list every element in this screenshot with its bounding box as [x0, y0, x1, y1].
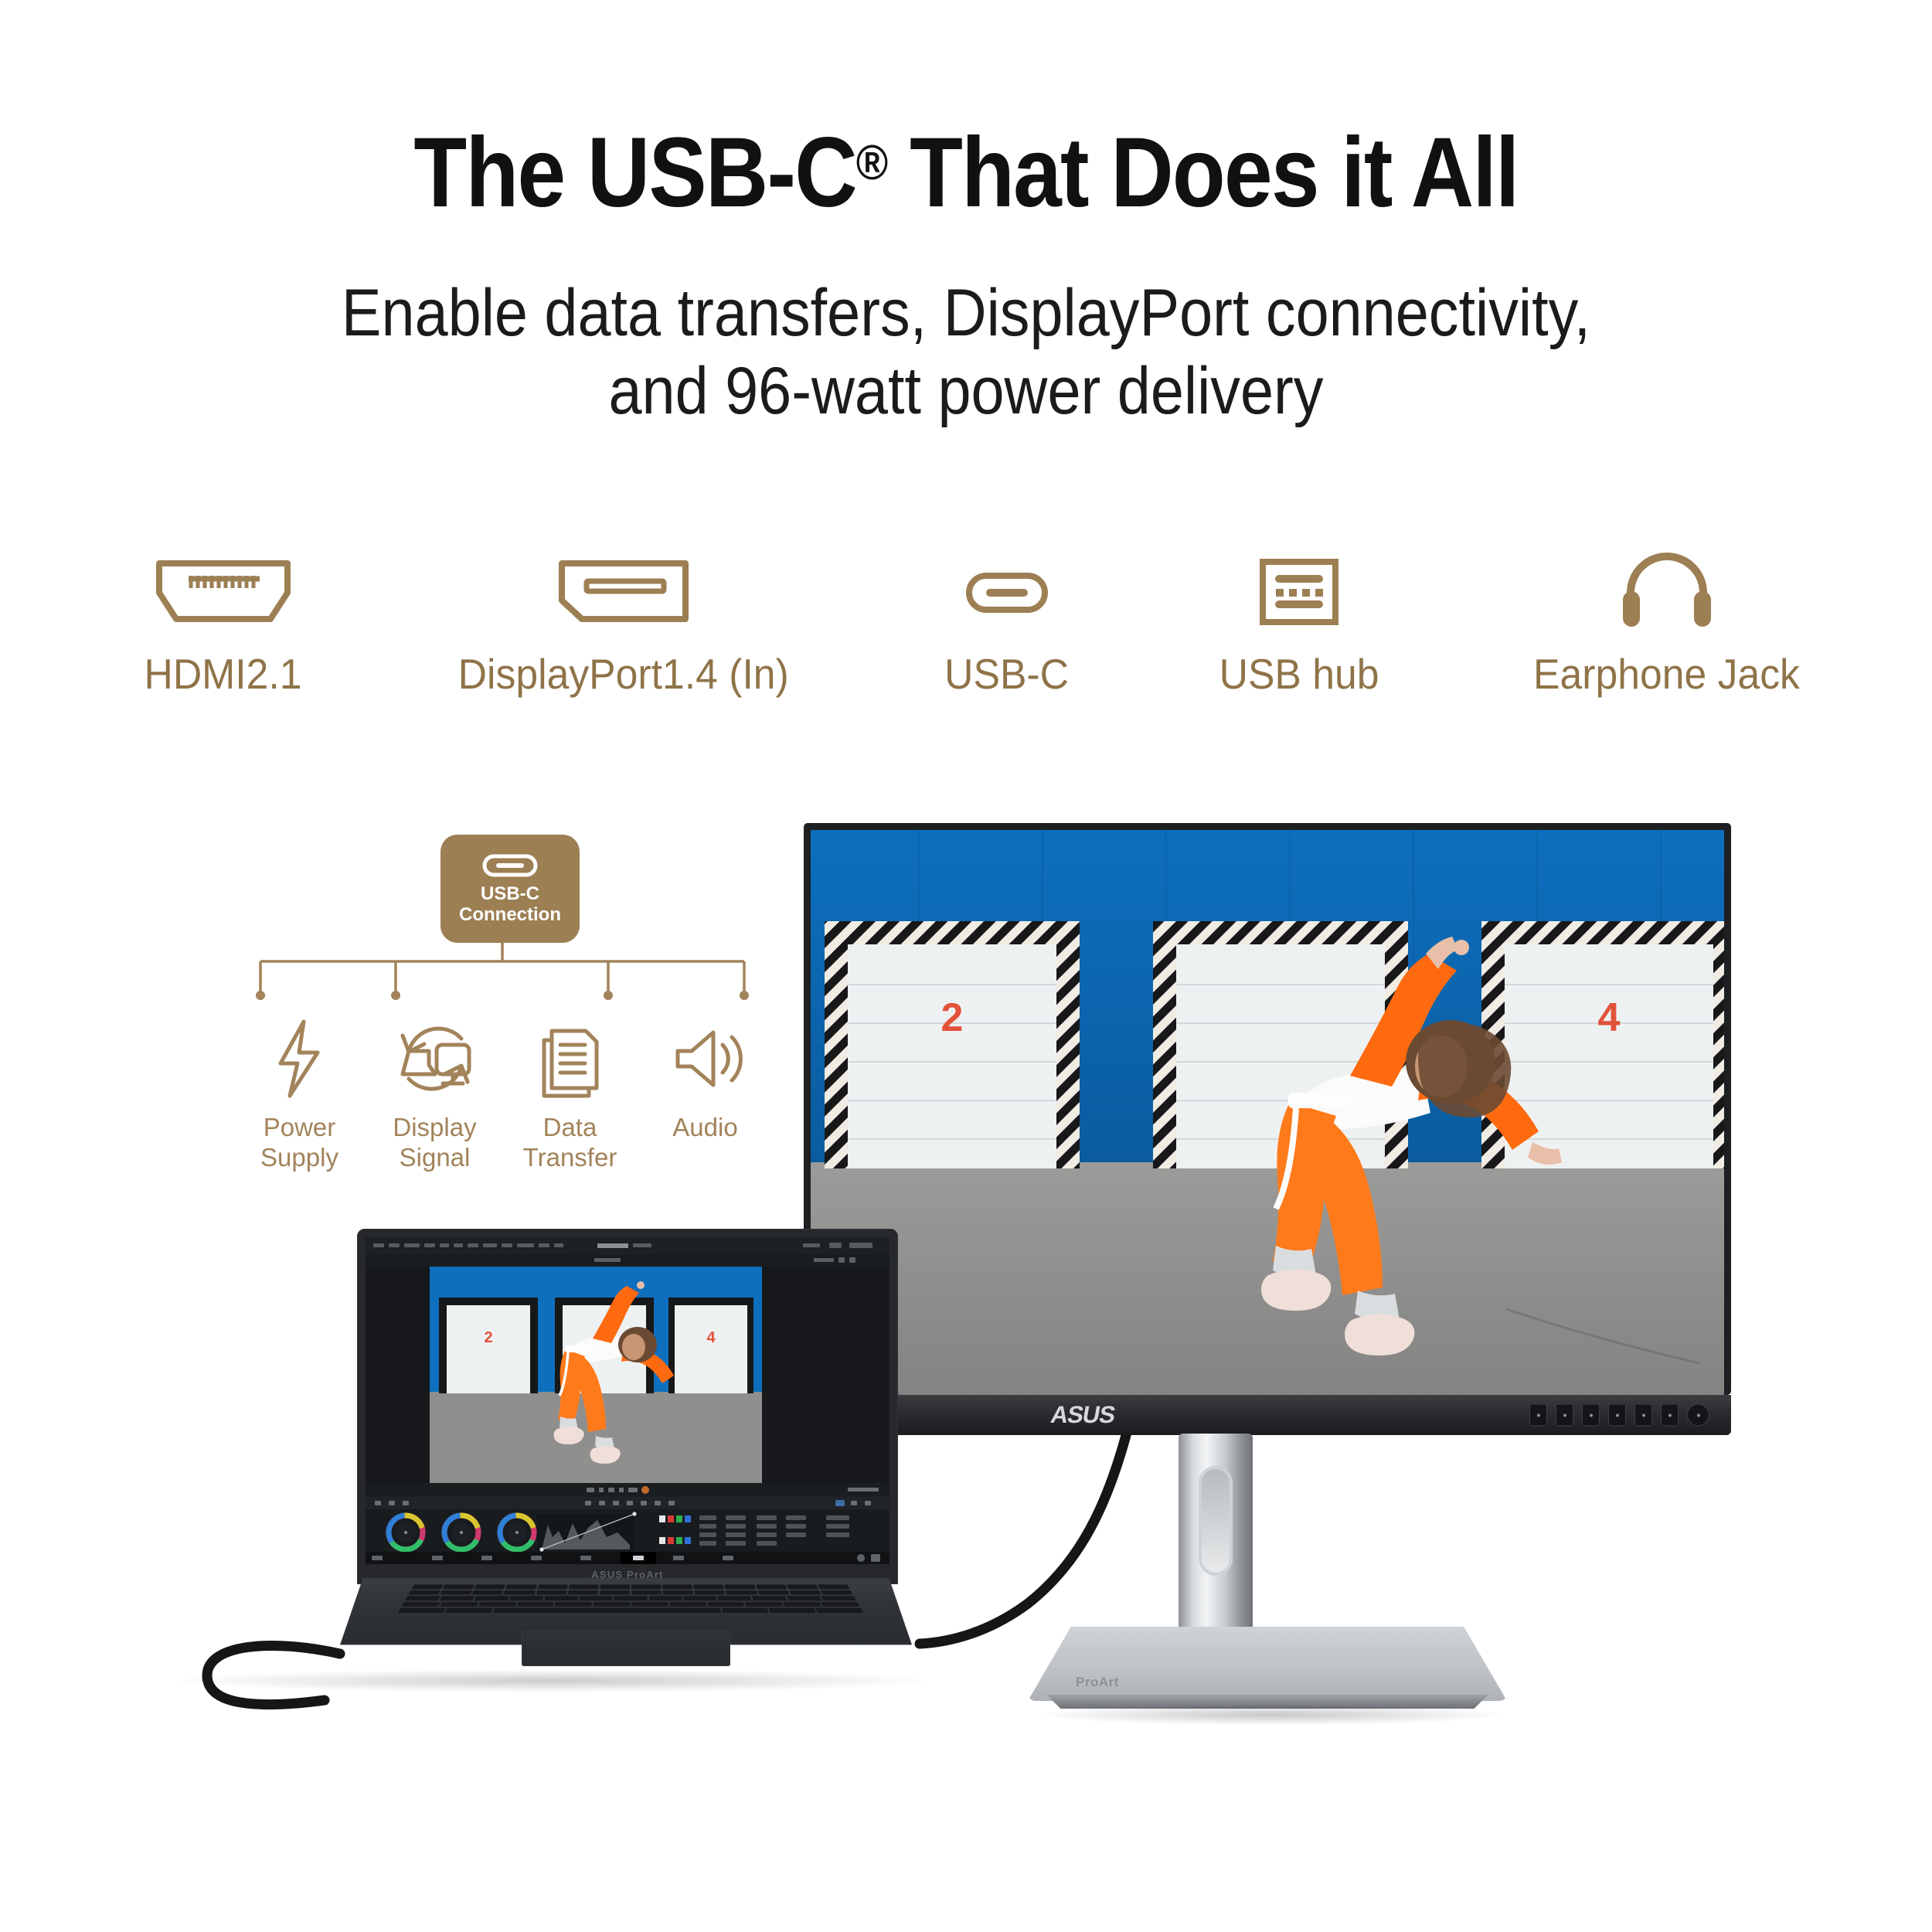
osd-button-4[interactable]	[1634, 1404, 1652, 1427]
keyboard-row-qwerty[interactable]	[405, 1596, 856, 1600]
monitor-chin-bezel: ASUS	[804, 1395, 1731, 1435]
branch-audio: Audio	[638, 1014, 773, 1173]
page-subtitle: Enable data transfers, DisplayPort conne…	[97, 274, 1835, 431]
usb-c-connection-diagram: USB-C Connection	[232, 835, 773, 1221]
door-number: 2	[484, 1329, 492, 1346]
branch-label: Power Supply	[260, 1113, 338, 1173]
door-number: 4	[706, 1329, 716, 1346]
subtitle-line-1: Enable data transfers, DisplayPort conne…	[97, 274, 1835, 352]
usb-c-connection-node: USB-C Connection	[440, 835, 580, 943]
monitor: 2 4	[804, 823, 1731, 1395]
laptop-app-window: 2 4	[366, 1237, 889, 1564]
hdmi-port-icon	[154, 549, 293, 634]
registered-trademark-icon: ®	[856, 134, 887, 190]
laptop-screen: 2 4	[366, 1237, 889, 1564]
monitor-shadow	[1039, 1705, 1503, 1725]
diagram-connector-lines	[232, 941, 773, 1012]
branch-data-transfer: Data Transfer	[502, 1014, 638, 1173]
port-list: HDMI2.1 DisplayPort1.4 (In) USB-C	[139, 549, 1808, 726]
branch-power-supply: Power Supply	[232, 1014, 367, 1173]
laptop-shadow	[166, 1669, 939, 1692]
monitor-bezel: 2 4	[804, 823, 1731, 1395]
product-feature-page: The USB-C® That Does it All Enable data …	[0, 0, 1932, 1932]
port-label: DisplayPort1.4 (In)	[458, 649, 789, 699]
proart-logo: ProArt	[1076, 1675, 1119, 1690]
usb-c-connection-label: USB-C Connection	[459, 884, 561, 926]
usb-c-icon	[481, 852, 539, 879]
monitor-screen: 2 4	[811, 830, 1724, 1395]
headline-text-after: That Does it All	[887, 117, 1519, 228]
door-number: 4	[1598, 995, 1621, 1040]
power-button[interactable]	[1529, 1404, 1547, 1427]
usb-c-port-icon	[957, 549, 1057, 634]
osd-button-1[interactable]	[1556, 1404, 1573, 1427]
osd-button-2[interactable]	[1582, 1404, 1600, 1427]
port-item-earphone-jack: Earphone Jack	[1525, 549, 1808, 699]
port-label: Earphone Jack	[1533, 649, 1800, 699]
subtitle-line-2: and 96-watt power delivery	[97, 352, 1835, 430]
port-label: HDMI2.1	[145, 649, 302, 699]
branch-label: Data Transfer	[523, 1113, 617, 1173]
power-bolt-icon	[270, 1014, 330, 1099]
branch-label: Audio	[672, 1113, 737, 1143]
door-number: 2	[941, 995, 964, 1040]
port-item-usb-hub: USB hub	[1214, 549, 1384, 699]
headline-text-before: The USB-C	[413, 117, 855, 228]
keyboard-row-space[interactable]	[398, 1607, 864, 1613]
usb-hub-port-icon	[1257, 549, 1342, 634]
speaker-audio-icon	[667, 1014, 744, 1099]
laptop-keyboard[interactable]	[398, 1584, 864, 1613]
port-label: USB-C	[944, 649, 1069, 699]
port-item-displayport: DisplayPort1.4 (In)	[447, 549, 799, 699]
keyboard-row-function[interactable]	[412, 1584, 850, 1589]
earphone-jack-icon	[1617, 549, 1717, 634]
port-label: USB hub	[1219, 649, 1379, 699]
osd-joystick[interactable]	[1687, 1404, 1709, 1427]
transport-bar	[366, 1483, 889, 1497]
asus-logo: ASUS	[1049, 1401, 1117, 1429]
diagram-branch-list: Power Supply Display Signal	[232, 1014, 773, 1173]
keyboard-row-home[interactable]	[401, 1601, 859, 1607]
display-signal-sync-icon	[392, 1014, 478, 1099]
cable-management-hole	[1199, 1466, 1233, 1576]
laptop: 2 4	[340, 1229, 912, 1631]
osd-button-3[interactable]	[1608, 1404, 1626, 1427]
port-item-hdmi: HDMI2.1	[139, 549, 307, 699]
laptop-lid: 2 4	[357, 1229, 898, 1584]
curves-histogram	[537, 1512, 637, 1551]
documents-icon	[535, 1014, 606, 1099]
keyboard-row-numbers[interactable]	[408, 1590, 852, 1594]
port-item-usb-c: USB-C	[940, 549, 1073, 699]
monitor-osd-buttons[interactable]	[1529, 1404, 1709, 1427]
branch-display-signal: Display Signal	[367, 1014, 502, 1173]
displayport-port-icon	[554, 549, 693, 634]
laptop-touchpad[interactable]	[522, 1631, 730, 1666]
branch-label: Display Signal	[393, 1113, 476, 1173]
osd-button-5[interactable]	[1661, 1404, 1679, 1427]
monitor-screen-image: 2 4	[811, 830, 1724, 1395]
page-title: The USB-C® That Does it All	[116, 116, 1816, 230]
